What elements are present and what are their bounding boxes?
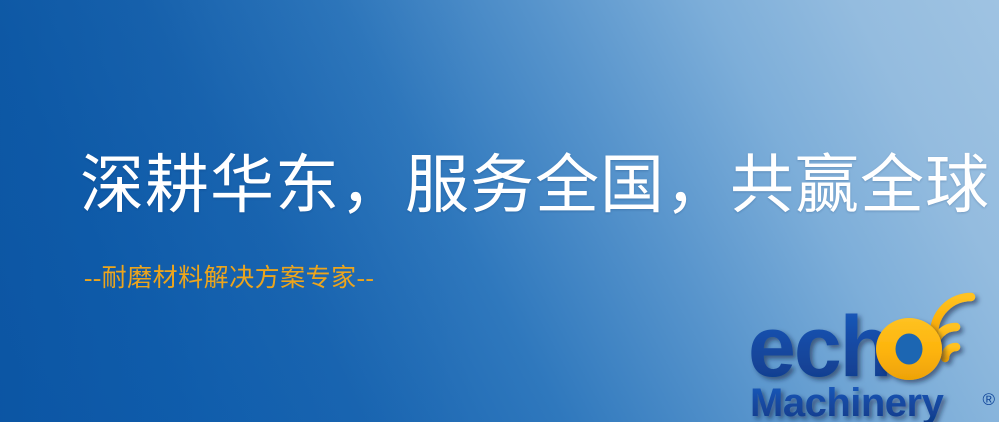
registered-trademark-icon: ® bbox=[982, 391, 995, 408]
hero-banner: 深耕华东，服务全国，共赢全球 --耐磨材料解决方案专家-- bbox=[0, 0, 999, 422]
page-title: 深耕华东，服务全国，共赢全球 bbox=[80, 152, 990, 219]
logo-wordmark-svg: ech Machinery bbox=[748, 292, 999, 422]
logo-letter-o-accent bbox=[876, 318, 942, 380]
brand-logo[interactable]: ech Machinery ® bbox=[748, 292, 999, 422]
logo-text-machinery: Machinery bbox=[750, 381, 945, 422]
page-subtitle: --耐磨材料解决方案专家-- bbox=[84, 264, 374, 294]
svg-text:Machinery: Machinery bbox=[750, 381, 945, 422]
